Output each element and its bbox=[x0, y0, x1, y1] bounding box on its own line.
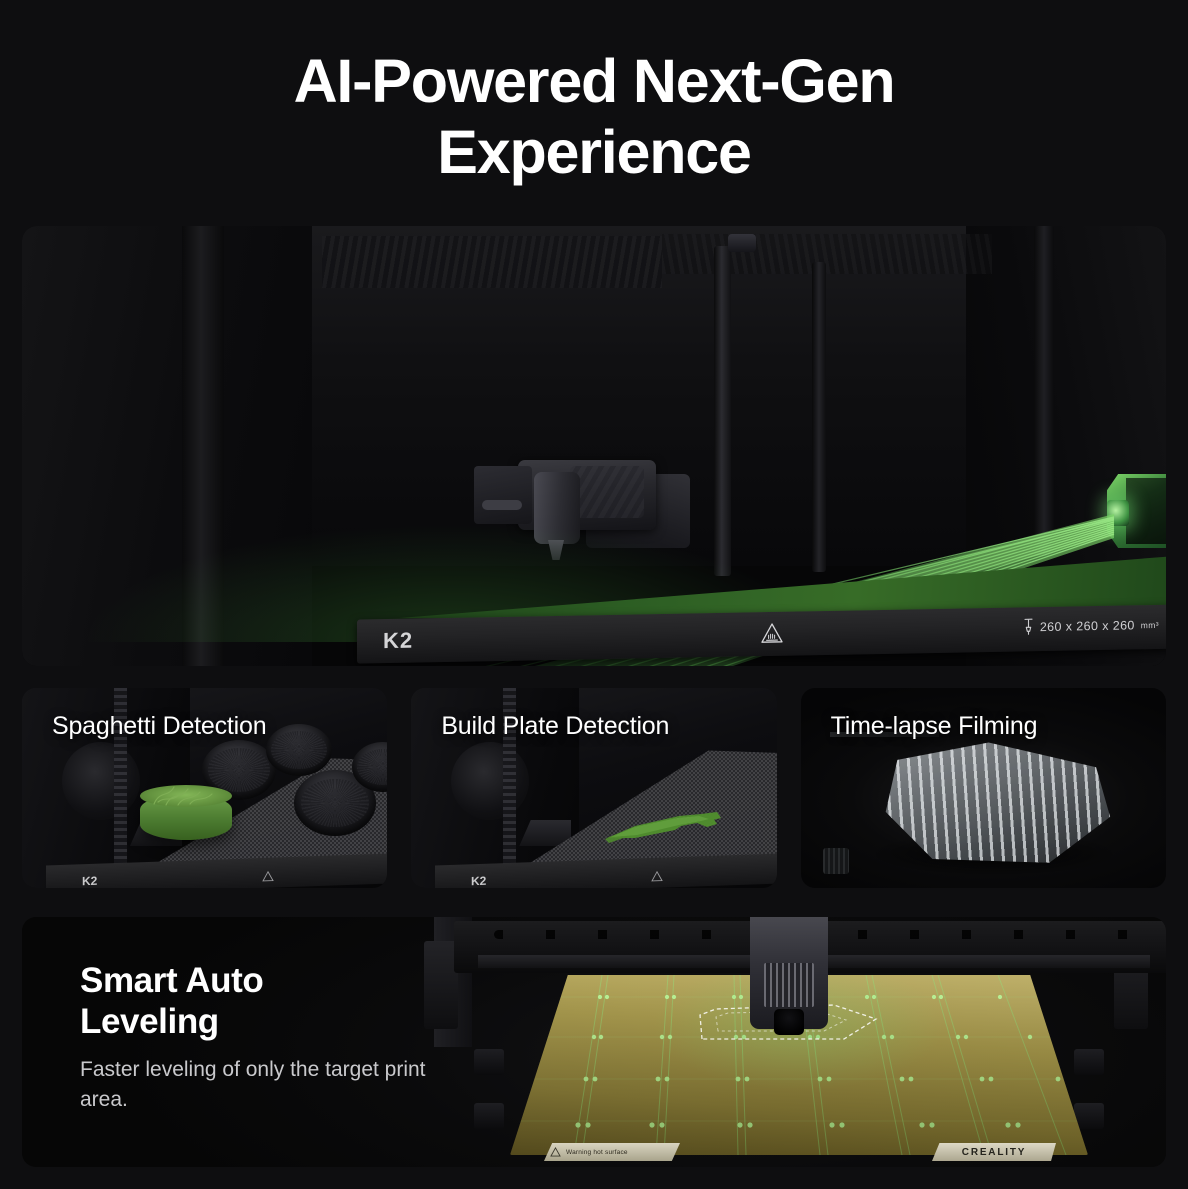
build-volume-unit: mm³ bbox=[1141, 619, 1159, 629]
tool-head-vent-fins bbox=[764, 963, 814, 1007]
plate-clip bbox=[474, 1049, 504, 1075]
page-title: AI-Powered Next-Gen Experience bbox=[0, 46, 1188, 189]
hot-surface-warning-icon bbox=[262, 869, 274, 880]
printer-model-label: K2 bbox=[82, 874, 97, 888]
printer-model-label: K2 bbox=[471, 874, 486, 888]
chamber-vent-grille bbox=[322, 236, 662, 288]
print-head-mount bbox=[474, 466, 532, 524]
panel-title-line-2: Leveling bbox=[80, 1002, 263, 1043]
nozzle-icon bbox=[1023, 618, 1034, 635]
build-volume-value: 260 x 260 x 260 bbox=[1040, 618, 1135, 634]
chamber-label-plate bbox=[823, 848, 849, 874]
lead-screw-post bbox=[714, 246, 731, 576]
smart-auto-leveling-panel: Smart Auto Leveling Faster leveling of o… bbox=[22, 917, 1166, 1167]
hot-surface-warning-icon bbox=[550, 1147, 561, 1157]
printed-knob bbox=[266, 724, 332, 776]
product-feature-page: AI-Powered Next-Gen Experience bbox=[0, 0, 1188, 1189]
panel-title-line-1: Smart Auto bbox=[80, 961, 263, 1002]
feature-card-time-lapse-filming[interactable]: Time-lapse Filming bbox=[801, 688, 1166, 888]
panel-title: Smart Auto Leveling bbox=[80, 961, 263, 1042]
page-title-line-1: AI-Powered Next-Gen bbox=[294, 47, 895, 115]
feature-card-spaghetti-detection[interactable]: K2 Spaghetti Detection bbox=[22, 688, 387, 888]
ai-camera-housing bbox=[1126, 478, 1166, 544]
spaghetti-strings bbox=[148, 784, 224, 806]
feature-card-label: Spaghetti Detection bbox=[52, 712, 266, 741]
frame-column bbox=[1034, 226, 1054, 556]
hero-image-card: K2 bbox=[22, 226, 1166, 666]
feature-card-row: K2 Spaghetti Detection bbox=[22, 688, 1166, 888]
feature-card-label: Build Plate Detection bbox=[441, 712, 669, 741]
lead-screw-cap bbox=[728, 234, 756, 252]
chamber-vent-grille-secondary bbox=[662, 234, 992, 274]
gantry-mount-left bbox=[424, 941, 458, 1029]
plate-warning-text: Warning hot surface bbox=[566, 1149, 628, 1156]
plate-warning-tab: Warning hot surface bbox=[544, 1143, 680, 1161]
print-head-fan bbox=[534, 472, 580, 544]
hot-surface-warning-icon bbox=[651, 869, 663, 880]
ai-camera-lens-icon bbox=[1107, 500, 1129, 526]
guide-rod bbox=[812, 262, 826, 572]
panel-subtitle: Faster leveling of only the target print… bbox=[80, 1055, 440, 1115]
leveling-probe-nozzle bbox=[774, 1009, 804, 1035]
green-wrench-print bbox=[605, 810, 723, 844]
printer-model-label: K2 bbox=[383, 628, 413, 655]
build-volume-indicator: 260 x 260 x 260mm³ bbox=[1023, 616, 1159, 635]
spool-holder-circle bbox=[62, 742, 140, 820]
feature-card-label: Time-lapse Filming bbox=[831, 712, 1038, 741]
spool-holder-circle bbox=[451, 742, 529, 820]
chamber-left-wall bbox=[22, 226, 312, 666]
hot-surface-warning-icon bbox=[760, 622, 784, 644]
plate-clip bbox=[474, 1103, 504, 1129]
feature-card-build-plate-detection[interactable]: K2 Build Plate Detection bbox=[411, 688, 776, 888]
plate-brand-tab: CREALITY bbox=[932, 1143, 1056, 1161]
page-title-line-2: Experience bbox=[0, 117, 1188, 188]
